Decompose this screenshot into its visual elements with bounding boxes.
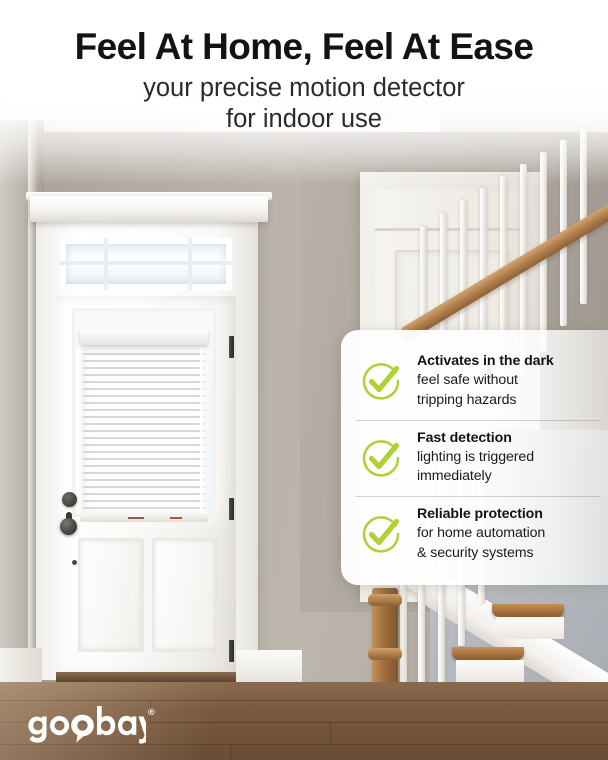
door-hinge: [229, 640, 234, 662]
page-title: Feel At Home, Feel At Ease: [0, 26, 608, 67]
feature-line: lighting is triggered: [417, 448, 534, 467]
door-panel: [152, 538, 218, 652]
check-circle-icon: [355, 360, 407, 402]
feature-line: tripping hazards: [417, 391, 554, 410]
subtitle-line-2: for indoor use: [0, 104, 608, 134]
door-header-molding: [30, 196, 268, 222]
feature-item: Reliable protection for home automation …: [341, 496, 608, 572]
door-knob: [60, 518, 77, 535]
goobay-wordmark: [28, 703, 146, 747]
feature-item: Activates in the dark feel safe without …: [341, 343, 608, 419]
door-deadbolt: [62, 492, 77, 507]
stair-tread: [452, 647, 524, 660]
door-screw: [72, 560, 77, 565]
feature-line: immediately: [417, 467, 534, 486]
stair-tread: [492, 604, 564, 617]
feature-list-card: Activates in the dark feel safe without …: [341, 330, 608, 585]
transom-mullion: [60, 261, 232, 265]
feature-text: Activates in the dark feel safe without …: [407, 352, 554, 409]
door-glass-frame: [72, 308, 216, 517]
subtitle-line-1: your precise motion detector: [0, 73, 608, 103]
door-threshold: [56, 672, 238, 682]
registered-trademark-symbol: ®: [148, 707, 155, 717]
stair-riser: [496, 617, 564, 639]
header-block: Feel At Home, Feel At Ease your precise …: [0, 0, 608, 134]
door-hinge: [229, 336, 234, 358]
floor-plank-end: [330, 722, 331, 744]
newel-post-ring: [368, 648, 402, 660]
brand-logo: ®: [28, 703, 155, 747]
newel-post-ring: [368, 594, 402, 606]
check-circle-icon: [355, 437, 407, 479]
feature-text: Reliable protection for home automation …: [407, 505, 545, 562]
feature-line: feel safe without: [417, 371, 554, 390]
feature-title: Reliable protection: [417, 505, 545, 524]
check-circle-icon: [355, 513, 407, 555]
door-hinge: [229, 498, 234, 520]
feature-item: Fast detection lighting is triggered imm…: [341, 420, 608, 496]
feature-line: for home automation: [417, 524, 545, 543]
door-panel: [78, 538, 144, 652]
feature-title: Activates in the dark: [417, 352, 554, 371]
feature-text: Fast detection lighting is triggered imm…: [407, 429, 534, 486]
product-poster: Feel At Home, Feel At Ease your precise …: [0, 0, 608, 760]
feature-title: Fast detection: [417, 429, 534, 448]
feature-line: & security systems: [417, 544, 545, 563]
stair-riser: [456, 660, 524, 682]
